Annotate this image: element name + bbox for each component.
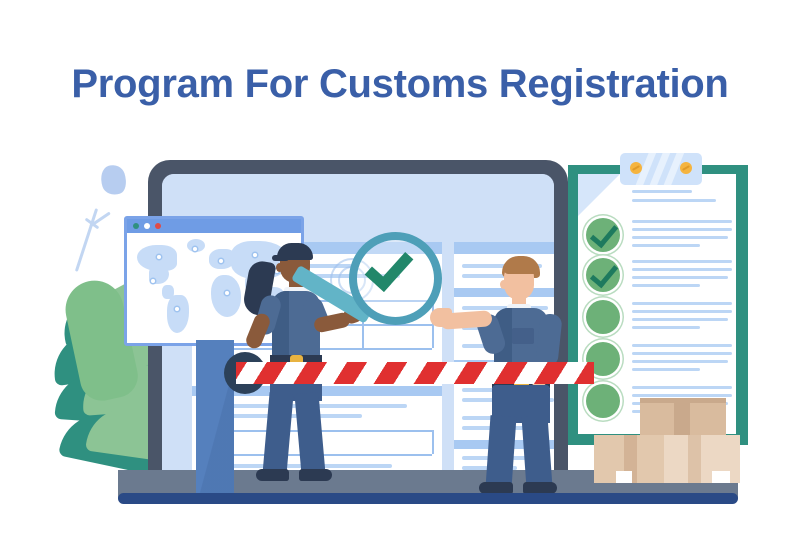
fem-shoe-left bbox=[256, 469, 289, 481]
box-front bbox=[664, 435, 740, 483]
male-leg-right bbox=[522, 415, 553, 489]
fem-leg-left bbox=[262, 392, 293, 476]
paper-folded-corner bbox=[578, 174, 620, 216]
fem-cap-brim bbox=[272, 255, 289, 261]
checklist-paper bbox=[578, 174, 736, 434]
barrier-boom-striped bbox=[236, 362, 594, 384]
browser-titlebar bbox=[127, 219, 301, 233]
male-ear bbox=[500, 280, 507, 289]
map-pin bbox=[193, 247, 197, 251]
male-leg-left bbox=[486, 415, 517, 489]
clip-screw-left bbox=[630, 162, 642, 174]
base-bar bbox=[118, 493, 738, 504]
map-pin bbox=[175, 307, 179, 311]
map-pin bbox=[219, 259, 223, 263]
check-icon bbox=[590, 259, 618, 289]
bdot-teal-icon[interactable] bbox=[133, 223, 139, 229]
male-hair-fringe bbox=[504, 262, 536, 274]
map-pin bbox=[157, 255, 161, 259]
clip-screw-right bbox=[680, 162, 692, 174]
clipboard-clip bbox=[620, 153, 702, 185]
fem-leg-right bbox=[294, 392, 325, 476]
male-arm-right bbox=[535, 313, 562, 367]
check-icon bbox=[590, 219, 618, 249]
checklist-circle-2[interactable] bbox=[586, 258, 620, 292]
map-pin bbox=[225, 291, 229, 295]
male-chest-pocket bbox=[512, 328, 534, 344]
box-left bbox=[594, 435, 670, 483]
checklist-circle-3[interactable] bbox=[586, 300, 620, 334]
bdot-red-icon[interactable] bbox=[155, 223, 161, 229]
checklist-circle-1[interactable] bbox=[586, 218, 620, 252]
map-pin bbox=[151, 279, 155, 283]
decorative-blob bbox=[97, 162, 130, 198]
bdot-white-icon[interactable] bbox=[144, 223, 150, 229]
page-title: Program For Customs Registration bbox=[0, 62, 800, 107]
illustration-canvas: Program For Customs Registration bbox=[0, 0, 800, 548]
fem-ear bbox=[276, 263, 283, 272]
male-hand-left bbox=[430, 308, 452, 327]
fem-shoe-right bbox=[299, 469, 332, 481]
checklist-circle-5[interactable] bbox=[586, 384, 620, 418]
